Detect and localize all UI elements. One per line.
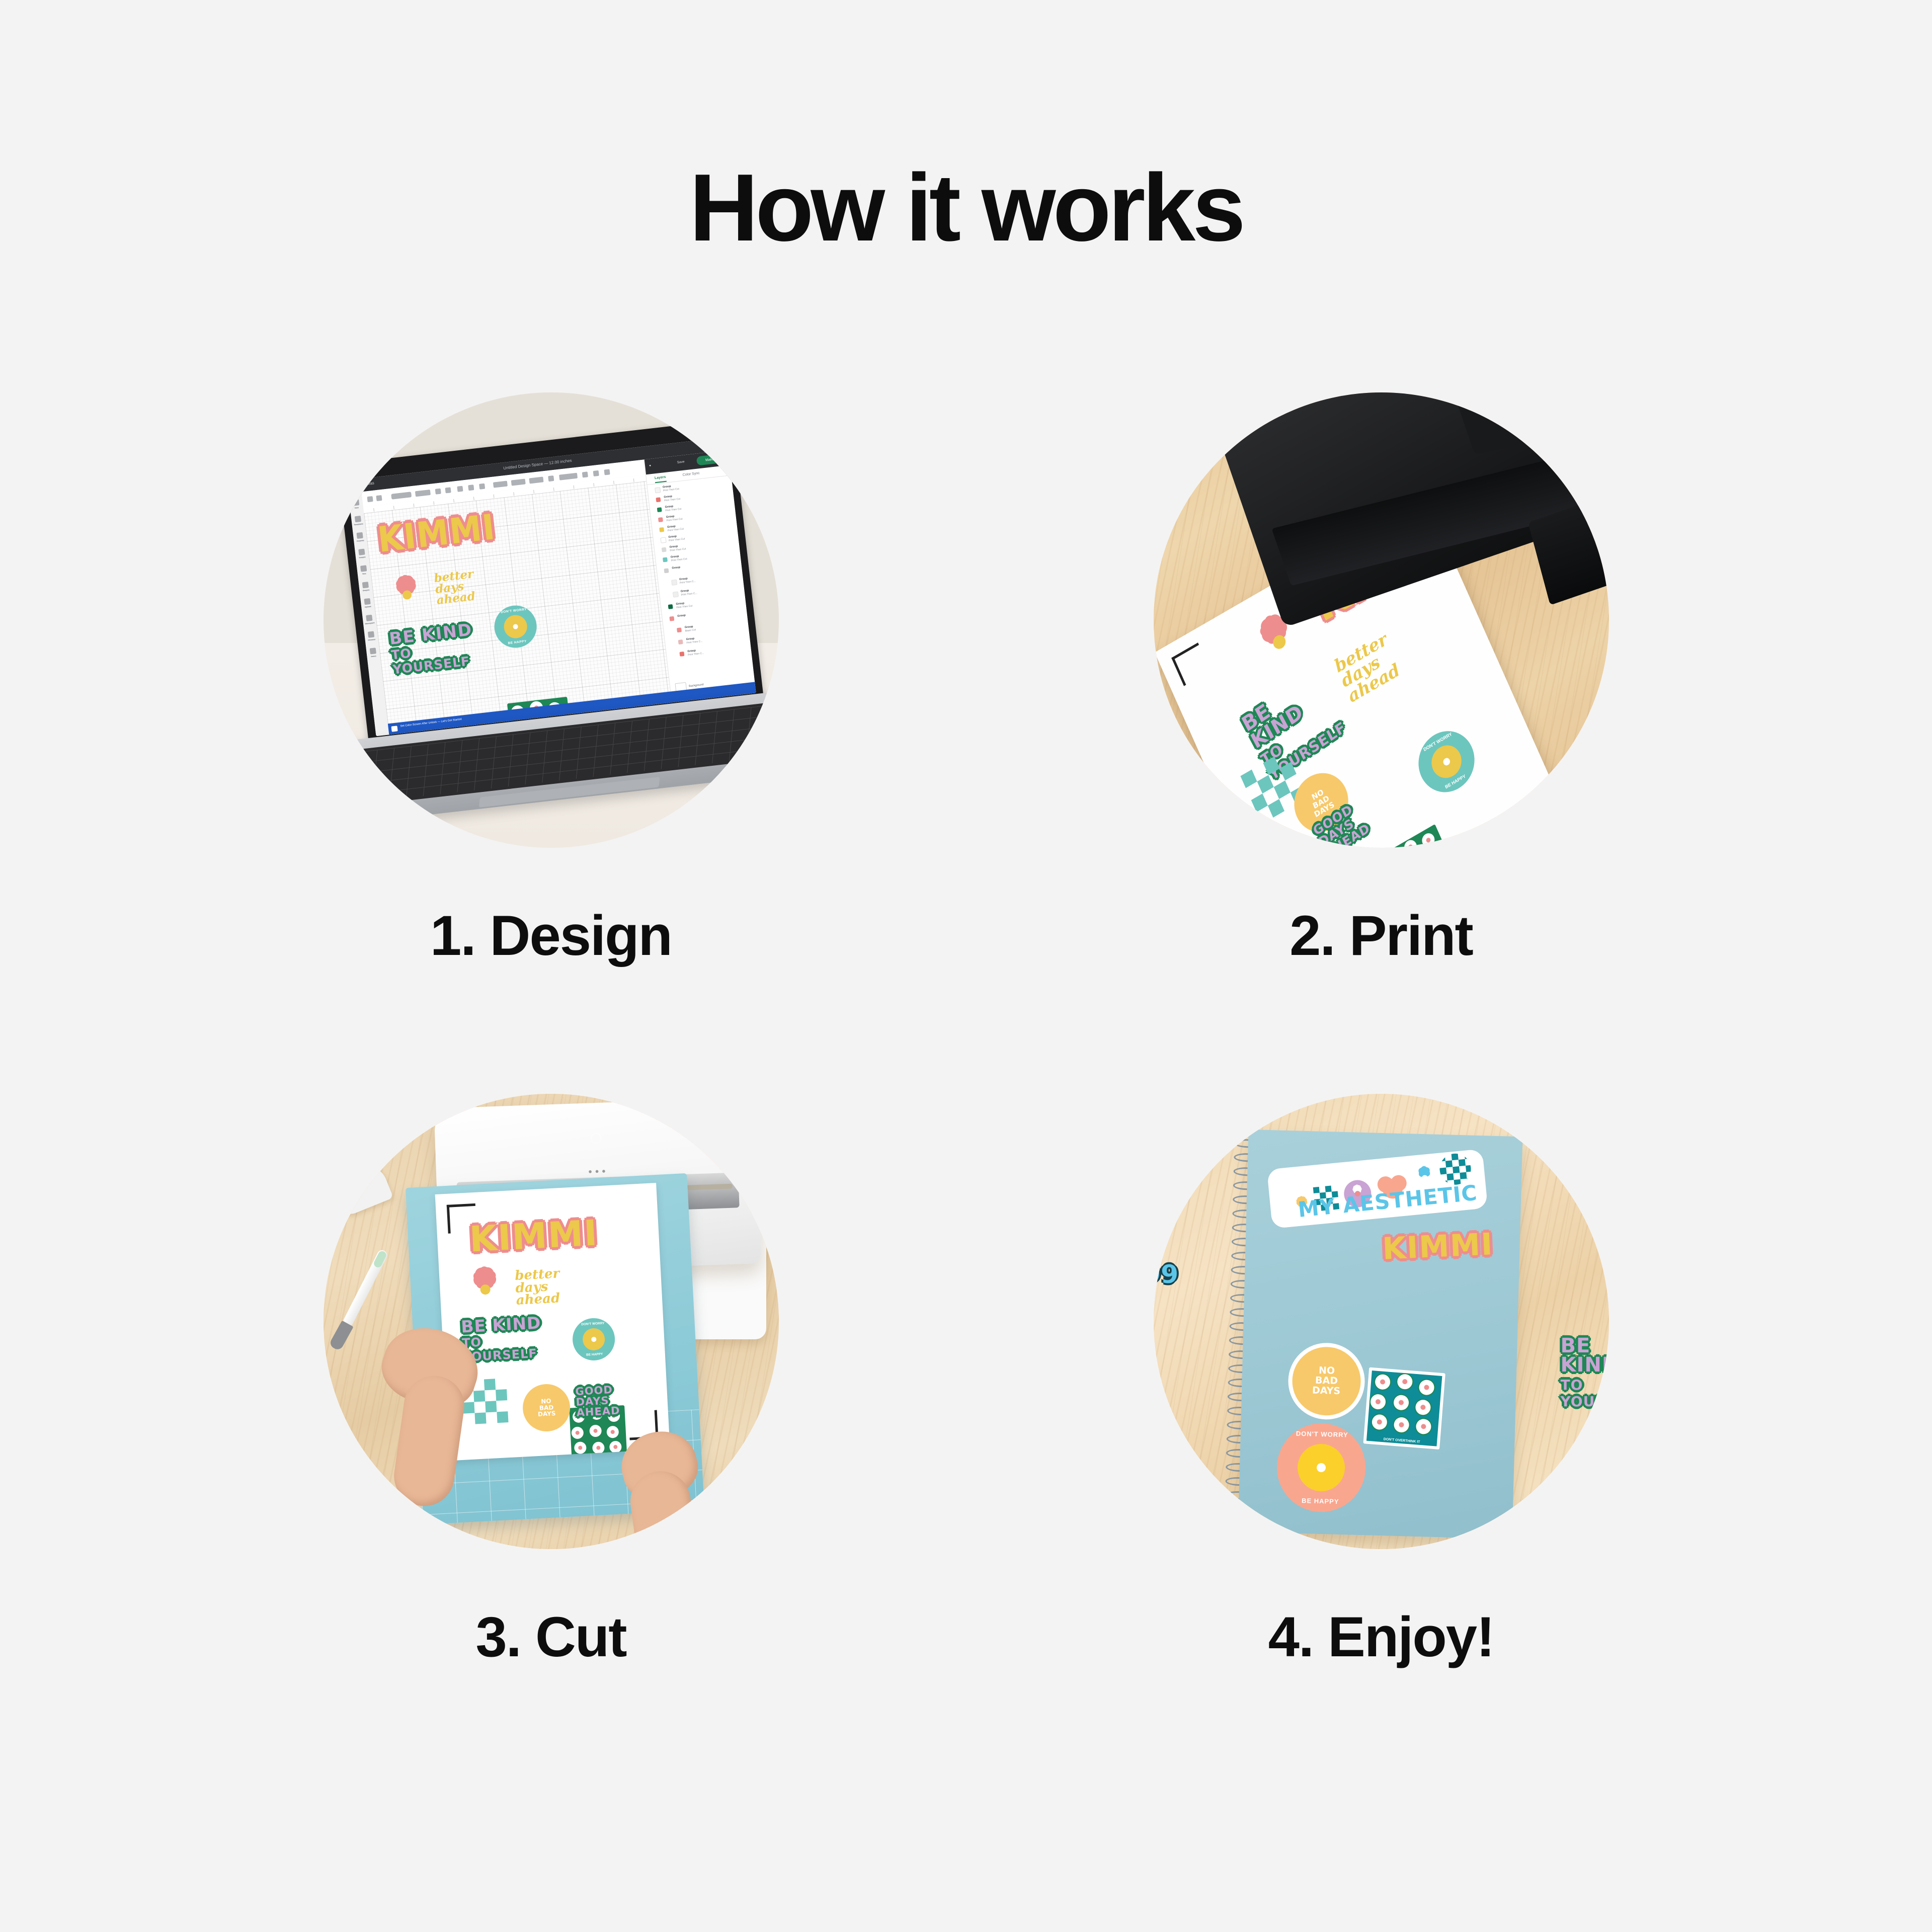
be-kind-line-1: BE KIND [1561, 1336, 1609, 1375]
curve-icon[interactable] [593, 470, 599, 476]
panel-status-label-3: ━━ [1504, 406, 1510, 411]
layer-swatch [661, 547, 666, 552]
sticker-kimmi[interactable]: KIMMI [375, 507, 497, 560]
fill-select[interactable] [415, 490, 430, 497]
advanced-icon[interactable] [604, 469, 610, 475]
arrange-icon[interactable] [468, 485, 474, 491]
ink-level-black [1586, 396, 1593, 405]
laptop-lid: Canvas Untitled Design Space — 12.00 inc… [337, 419, 763, 744]
notebook-sticker-no-bad-days: NO BAD DAYS [1287, 1342, 1365, 1420]
mat-sticker-better-days: better days ahead [514, 1267, 567, 1307]
step-image-enjoy: 99 BE KIND TO YOURSELF [1154, 1094, 1609, 1549]
tool-label-notes: Notes [367, 654, 380, 658]
registration-mark-bottom-right [1530, 823, 1569, 848]
phrases-icon[interactable] [367, 631, 374, 637]
font-size-field[interactable] [559, 473, 578, 480]
tool-label-shapes: Shapes [359, 588, 372, 592]
dont-worry-top-text: DON'T WORRY [492, 607, 534, 615]
templates-icon[interactable] [354, 516, 361, 522]
background-label: Background [688, 683, 703, 687]
layer-swatch [671, 580, 677, 586]
notes-icon[interactable] [369, 648, 376, 654]
dont-worry-top-text: DON'T WORRY [572, 1321, 614, 1327]
tool-label-upload: Upload [361, 605, 374, 609]
dont-worry-bottom-text: BE HAPPY [496, 638, 538, 647]
tool-label-phrases: Phrases [365, 638, 378, 642]
linetype-select[interactable] [391, 492, 412, 499]
layer-swatch [672, 591, 678, 597]
sticker-sheet-on-mat: KIMMI better days ahead [435, 1183, 670, 1461]
position-field[interactable] [529, 476, 543, 484]
step-caption-design: 1. Design [430, 903, 672, 968]
notebook-sticker-my-aesthetic: MY AESTHETIC [1266, 1149, 1487, 1229]
sheet-sticker-daisy-grid: DON'T OVERTHINK IT [1383, 824, 1460, 848]
layer-swatch [657, 507, 662, 512]
font-icon[interactable] [548, 475, 554, 481]
layer-swatch [660, 537, 666, 543]
be-kind-line-2: TO YOURSELF [461, 1331, 558, 1364]
notebook-sticker-daisy-grid: DON'T OVERTHINK IT [1363, 1367, 1445, 1450]
step-card-print[interactable]: KIMMI better days ahead BE KIND [966, 392, 1796, 968]
step-card-design[interactable]: Canvas Untitled Design Space — 12.00 inc… [136, 392, 966, 968]
size-field[interactable] [493, 481, 507, 488]
step-caption-enjoy: 4. Enjoy! [1268, 1604, 1494, 1669]
layer-name: Group [672, 566, 680, 570]
steps-grid: Canvas Untitled Design Space — 12.00 inc… [0, 392, 1932, 1669]
layer-swatch [679, 652, 684, 657]
be-kind-line-2: TO YOURSELF [1561, 1377, 1609, 1410]
layer-swatch [678, 639, 683, 645]
design-canvas-area[interactable]: KIMMI [363, 474, 672, 735]
laptop-screen: Canvas Untitled Design Space — 12.00 inc… [347, 437, 756, 737]
select-all-icon[interactable] [435, 489, 441, 495]
registration-mark-top-left [1171, 642, 1211, 686]
step-card-enjoy[interactable]: 99 BE KIND TO YOURSELF [966, 1094, 1796, 1669]
mat-sticker-be-kind: BE KIND TO YOURSELF [460, 1314, 558, 1364]
edit-icon[interactable] [445, 487, 451, 493]
save-button[interactable]: Save [677, 460, 685, 464]
step-card-cut[interactable]: ● ● ● KIMMI [136, 1094, 966, 1669]
layer-swatch [668, 604, 673, 609]
redo-icon[interactable] [376, 495, 382, 501]
ink-level-yellow [1574, 392, 1581, 398]
sticker-checkered-flower[interactable] [383, 571, 431, 619]
offsheet-sticker-number: 99 [1154, 1260, 1179, 1289]
align-icon[interactable] [457, 486, 463, 492]
steps-row-1: Canvas Untitled Design Space — 12.00 inc… [0, 392, 1932, 968]
steps-row-2: ● ● ● KIMMI [0, 1094, 1932, 1669]
make-it-button[interactable]: Make It [696, 453, 726, 465]
step-caption-print: 2. Print [1290, 903, 1473, 968]
mat-sticker-flower [460, 1264, 511, 1315]
tool-label-text: Text [357, 572, 370, 576]
dont-worry-top-text: DON'T WORRY [1277, 1429, 1366, 1439]
layer-operation: Basic Cut [685, 628, 696, 632]
how-it-works-page: How it works Canvas Unti [0, 0, 1932, 1932]
projects-icon[interactable] [356, 532, 363, 539]
sticker-better-days-ahead[interactable]: better days ahead [433, 568, 483, 606]
layer-swatch [659, 527, 664, 532]
notebook-sticker-dont-worry: DON'T WORRY BE HAPPY [1275, 1422, 1366, 1513]
laptop: Canvas Untitled Design Space — 12.00 inc… [324, 413, 779, 829]
layer-swatch [664, 568, 669, 573]
rotate-field[interactable] [511, 478, 525, 486]
spiral-notebook: MY AESTHETIC KIMMI NO BAD DAYS [1238, 1130, 1522, 1539]
app-brand-label: Canvas [360, 481, 374, 487]
power-button[interactable] [1462, 392, 1491, 404]
stop-button[interactable] [1600, 392, 1609, 406]
sticker-be-kind-to-yourself[interactable]: BE KIND TO YOURSELF [388, 620, 491, 677]
mat-sticker-good-days-ahead: GOOD DAYS AHEAD [575, 1384, 631, 1418]
layer-swatch [658, 517, 663, 522]
panel-status-label-2: ━━ [1500, 393, 1506, 398]
tool-label-new: New [350, 506, 363, 510]
text-icon[interactable] [360, 565, 366, 572]
flip-icon[interactable] [479, 484, 485, 490]
no-bad-days-line-3: DAYS [537, 1410, 555, 1417]
tool-label-monogram: Monogram [363, 621, 376, 625]
daisy-grid-caption: DON'T OVERTHINK IT [1366, 1436, 1437, 1445]
page-title: How it works [0, 160, 1932, 256]
undo-icon[interactable] [367, 496, 373, 502]
step-image-print: KIMMI better days ahead BE KIND [1154, 392, 1609, 848]
mat-sticker-no-bad-days: NO BAD DAYS [521, 1383, 571, 1433]
app-logo-icon [351, 482, 358, 489]
sheet-sticker-dont-worry: DON'T WORRY BE HAPPY [1409, 720, 1484, 803]
upload-icon[interactable] [364, 598, 370, 605]
spacing-icon[interactable] [582, 471, 588, 477]
cutter-brand-label: ● ● ● [588, 1167, 606, 1175]
tool-label-projects: Projects [354, 539, 367, 543]
images-icon[interactable] [358, 549, 365, 555]
step-image-design: Canvas Untitled Design Space — 12.00 inc… [324, 392, 779, 848]
offsheet-sticker-be-kind: BE KIND TO YOURSELF [1561, 1336, 1609, 1410]
dont-worry-bottom-text: BE HAPPY [1276, 1496, 1364, 1506]
layer-swatch [663, 557, 668, 562]
shapes-icon[interactable] [362, 582, 368, 588]
layer-name: Group [677, 614, 686, 618]
kimmi-text: KIMMI [1382, 1227, 1494, 1267]
power-led-icon [592, 1134, 600, 1143]
dont-worry-bottom-text: BE HAPPY [573, 1352, 615, 1357]
layer-swatch [656, 497, 661, 502]
tab-color-sync[interactable]: Color Sync [682, 471, 700, 477]
notebook-sticker-kimmi: KIMMI [1382, 1227, 1494, 1267]
layer-swatch [669, 616, 674, 621]
layer-swatch [677, 627, 682, 632]
new-icon[interactable] [353, 499, 359, 506]
banner-icon [391, 726, 397, 732]
tool-label-templates: Templates [352, 522, 365, 526]
tab-layers[interactable]: Layers [654, 475, 666, 483]
step-image-cut: ● ● ● KIMMI [324, 1094, 779, 1549]
monogram-icon[interactable] [366, 615, 372, 621]
step-caption-cut: 3. Cut [475, 1604, 626, 1669]
layer-swatch [655, 487, 661, 493]
no-bad-days-line-3: DAYS [1312, 1386, 1340, 1396]
mat-sticker-kimmi: KIMMI [468, 1212, 599, 1260]
tool-label-images: Images [355, 555, 368, 559]
sticker-dont-worry-be-happy[interactable]: DON'T WORRY BE HAPPY [492, 603, 539, 650]
mat-sticker-dont-worry: DON'T WORRY BE HAPPY [571, 1317, 615, 1361]
learning-pro-label: ● [649, 464, 651, 467]
